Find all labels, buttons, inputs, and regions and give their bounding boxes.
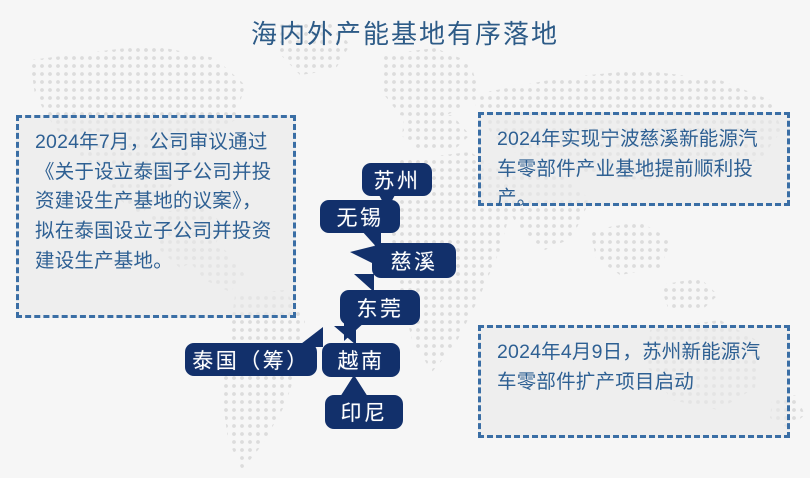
callout-dongguan[interactable]: 东莞 (340, 290, 420, 325)
callout-tail-icon (297, 327, 323, 347)
note-box-cixi: 2024年实现宁波慈溪新能源汽车零部件产业基地提前顺利投产。 (478, 112, 790, 206)
callout-label: 越南 (338, 345, 385, 375)
callout-tail-icon (354, 274, 374, 292)
callout-label: 东莞 (357, 293, 404, 323)
callout-label: 印尼 (341, 397, 388, 427)
note-box-thailand: 2024年7月，公司审议通过《关于设立泰国子公司并投资建设生产基地的议案》，拟在… (16, 115, 296, 318)
callout-cixi[interactable]: 慈溪 (372, 243, 456, 278)
callout-tail-icon (350, 246, 374, 264)
callout-tail-icon (334, 326, 356, 345)
slide-canvas: 海内外产能基地有序落地 2024年7月，公司审议通过《关于设立泰国子公司并投资建… (0, 0, 810, 478)
note-box-suzhou: 2024年4月9日，苏州新能源汽车零部件扩产项目启动 (478, 325, 790, 438)
callout-label: 无锡 (337, 202, 384, 232)
callout-label: 苏州 (374, 165, 421, 195)
callout-wuxi[interactable]: 无锡 (320, 200, 400, 233)
callout-label: 泰国（筹） (192, 345, 310, 375)
callout-vietnam[interactable]: 越南 (322, 343, 400, 377)
callout-thailand[interactable]: 泰国（筹） (185, 343, 317, 376)
callout-tail-icon (340, 375, 368, 397)
page-title: 海内外产能基地有序落地 (0, 14, 810, 51)
callout-suzhou[interactable]: 苏州 (362, 163, 432, 196)
callout-label: 慈溪 (391, 246, 438, 276)
callout-indonesia[interactable]: 印尼 (325, 395, 403, 429)
